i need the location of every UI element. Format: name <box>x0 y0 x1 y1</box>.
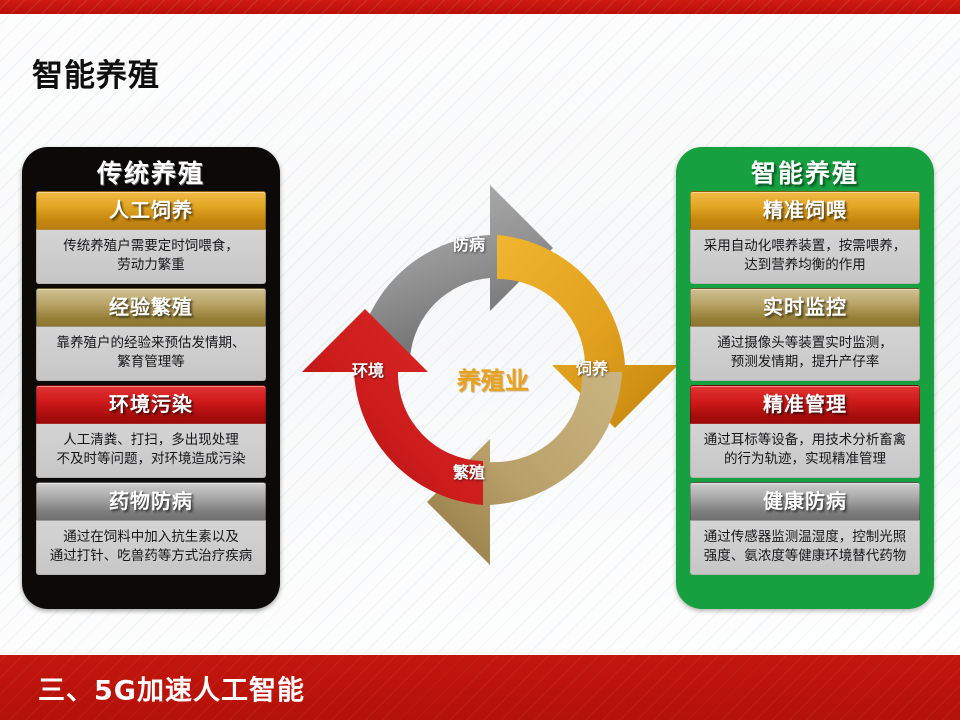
card-body-line: 通过传感器监测温湿度，控制光照 <box>695 528 915 547</box>
list-item[interactable]: 环境污染 人工清粪、打扫，多出现处理 不及时等问题，对环境造成污染 <box>36 385 266 478</box>
card-body-line: 通过耳标等设备，用技术分析畜禽 <box>695 431 915 450</box>
cycle-label-fanzhi: 繁殖 <box>452 463 486 482</box>
card-body-line: 不及时等问题，对环境造成污染 <box>41 450 261 469</box>
card-body-line: 人工清粪、打扫，多出现处理 <box>41 431 261 450</box>
card-body-line: 预测发情期，提升产仔率 <box>695 353 915 372</box>
card-body: 传统养殖户需要定时饲喂食， 劳动力繁重 <box>36 230 266 284</box>
card-header: 健康防病 <box>690 482 920 521</box>
smart-card-list: 精准饲喂 采用自动化喂养装置，按需喂养， 达到营养均衡的作用 实时监控 通过摄像… <box>690 191 920 579</box>
traditional-farming-panel: 传统养殖 人工饲养 传统养殖户需要定时饲喂食， 劳动力繁重 经验繁殖 靠养殖户的… <box>22 147 280 609</box>
card-body-line: 达到营养均衡的作用 <box>695 256 915 275</box>
list-item[interactable]: 药物防病 通过在饲料中加入抗生素以及 通过打针、吃兽药等方式治疗疾病 <box>36 482 266 575</box>
smart-farming-title: 智能养殖 <box>676 154 934 190</box>
list-item[interactable]: 健康防病 通过传感器监测温湿度，控制光照 强度、氨浓度等健康环境替代药物 <box>690 482 920 575</box>
card-body-line: 劳动力繁重 <box>41 256 261 275</box>
card-body: 采用自动化喂养装置，按需喂养， 达到营养均衡的作用 <box>690 230 920 284</box>
card-body-line: 的行为轨迹，实现精准管理 <box>695 450 915 469</box>
card-body-line: 采用自动化喂养装置，按需喂养， <box>695 237 915 256</box>
list-item[interactable]: 精准管理 通过耳标等设备，用技术分析畜禽 的行为轨迹，实现精准管理 <box>690 385 920 478</box>
card-body-line: 通过在饲料中加入抗生素以及 <box>41 528 261 547</box>
list-item[interactable]: 人工饲养 传统养殖户需要定时饲喂食， 劳动力繁重 <box>36 191 266 284</box>
traditional-card-list: 人工饲养 传统养殖户需要定时饲喂食， 劳动力繁重 经验繁殖 靠养殖户的经验来预估… <box>36 191 266 579</box>
card-header: 环境污染 <box>36 385 266 424</box>
page-title: 智能养殖 <box>32 50 160 95</box>
card-body: 通过摄像头等装置实时监测， 预测发情期，提升产仔率 <box>690 327 920 381</box>
card-header: 精准管理 <box>690 385 920 424</box>
card-body: 通过耳标等设备，用技术分析畜禽 的行为轨迹，实现精准管理 <box>690 424 920 478</box>
card-body-line: 繁育管理等 <box>41 353 261 372</box>
card-header: 经验繁殖 <box>36 288 266 327</box>
card-body-line: 通过打针、吃兽药等方式治疗疾病 <box>41 547 261 566</box>
smart-farming-panel: 智能养殖 精准饲喂 采用自动化喂养装置，按需喂养， 达到营养均衡的作用 实时监控… <box>676 147 934 609</box>
traditional-farming-title: 传统养殖 <box>22 154 280 190</box>
card-header: 精准饲喂 <box>690 191 920 230</box>
cycle-label-siyang: 饲养 <box>562 359 622 378</box>
footer-bar: 三、5G加速人工智能 <box>0 655 960 720</box>
card-body-line: 靠养殖户的经验来预估发情期、 <box>41 334 261 353</box>
card-body-line: 通过摄像头等装置实时监测， <box>695 334 915 353</box>
list-item[interactable]: 精准饲喂 采用自动化喂养装置，按需喂养， 达到营养均衡的作用 <box>690 191 920 284</box>
card-header: 药物防病 <box>36 482 266 521</box>
card-header: 实时监控 <box>690 288 920 327</box>
cycle-label-huanjing: 环境 <box>338 361 398 380</box>
card-body-line: 强度、氨浓度等健康环境替代药物 <box>695 547 915 566</box>
list-item[interactable]: 实时监控 通过摄像头等装置实时监测， 预测发情期，提升产仔率 <box>690 288 920 381</box>
list-item[interactable]: 经验繁殖 靠养殖户的经验来预估发情期、 繁育管理等 <box>36 288 266 381</box>
card-body: 通过传感器监测温湿度，控制光照 强度、氨浓度等健康环境替代药物 <box>690 521 920 575</box>
card-body-line: 传统养殖户需要定时饲喂食， <box>41 237 261 256</box>
farming-cycle-diagram: 防病 饲养 繁殖 环境 养殖业 <box>300 175 680 575</box>
cycle-center-label: 养殖业 <box>457 361 529 396</box>
top-accent-bar <box>0 0 960 14</box>
slide: 智能养殖 传统养殖 人工饲养 传统养殖户需要定时饲喂食， 劳动力繁重 经验繁殖 … <box>0 0 960 720</box>
card-body: 人工清粪、打扫，多出现处理 不及时等问题，对环境造成污染 <box>36 424 266 478</box>
card-body: 通过在饲料中加入抗生素以及 通过打针、吃兽药等方式治疗疾病 <box>36 521 266 575</box>
cycle-label-fangbing: 防病 <box>452 235 486 254</box>
card-body: 靠养殖户的经验来预估发情期、 繁育管理等 <box>36 327 266 381</box>
card-header: 人工饲养 <box>36 191 266 230</box>
footer-title: 三、5G加速人工智能 <box>38 668 305 707</box>
